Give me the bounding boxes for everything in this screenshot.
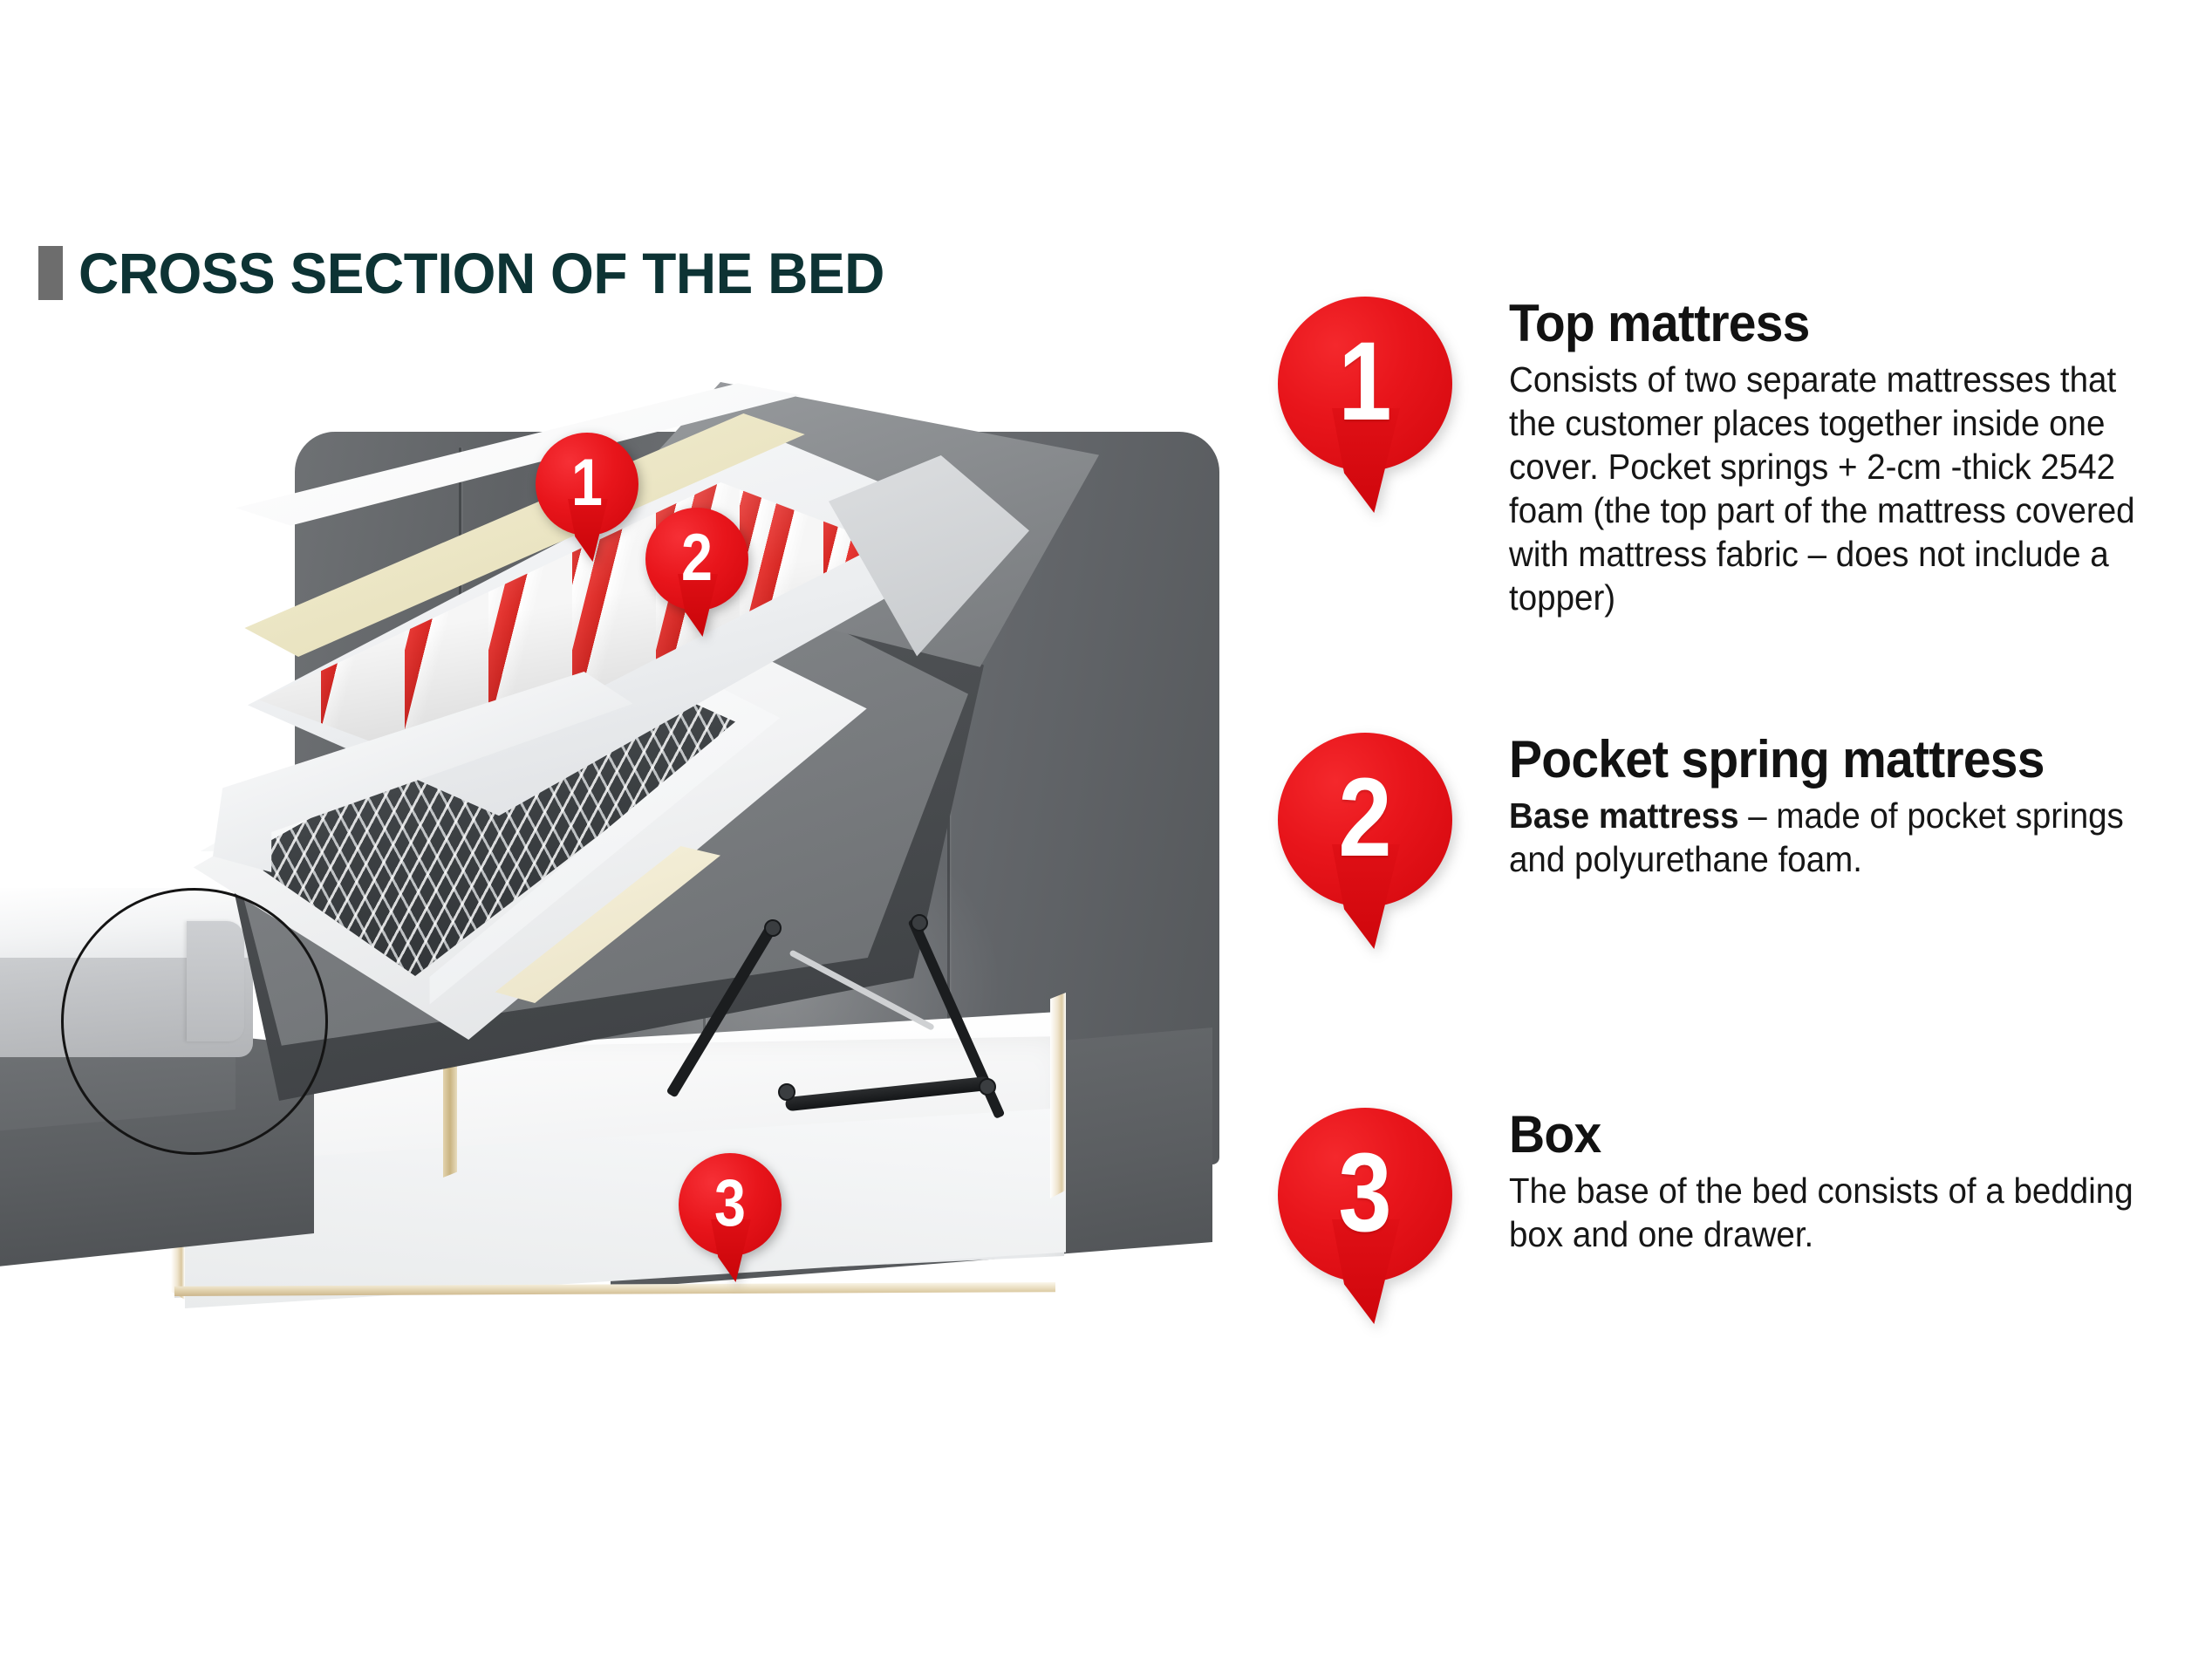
callout-1-title: Top mattress <box>1509 297 2168 351</box>
strut-bolt <box>979 1078 996 1096</box>
callout-2-title: Pocket spring mattress <box>1509 733 2168 787</box>
callout-3: 3 Box The base of the bed consists of a … <box>1278 1108 2202 1369</box>
strut-bolt <box>764 919 782 937</box>
callout-2-lead-bold: Base mattress <box>1509 795 1739 836</box>
callout-1-description: Consists of two separate mattresses that… <box>1509 358 2161 619</box>
marker-pin: 3 <box>1278 1108 1452 1328</box>
callout-1-marker[interactable]: 1 <box>1278 297 1487 550</box>
callout-2-number: 2 <box>1290 733 1440 907</box>
callout-1-body: Top mattress Consists of two separate ma… <box>1509 297 2202 619</box>
infographic-canvas: CROSS SECTION OF THE BED <box>0 0 2212 1659</box>
image-marker-2[interactable]: 2 <box>645 508 748 638</box>
callout-2: 2 Pocket spring mattress Base mattress –… <box>1278 733 2202 1108</box>
callout-3-marker[interactable]: 3 <box>1278 1108 1487 1361</box>
page-title: CROSS SECTION OF THE BED <box>79 246 884 300</box>
callout-3-body: Box The base of the bed consists of a be… <box>1509 1108 2202 1256</box>
bed-cross-section-illustration: 1 2 3 <box>0 410 1247 1378</box>
callout-2-body: Pocket spring mattress Base mattress – m… <box>1509 733 2202 881</box>
strut-bolt <box>778 1083 795 1101</box>
image-marker-1[interactable]: 1 <box>536 433 638 563</box>
callout-3-title: Box <box>1509 1108 2168 1162</box>
title-accent-bar <box>38 246 63 300</box>
marker-number: 3 <box>686 1153 774 1256</box>
page-title-row: CROSS SECTION OF THE BED <box>38 246 909 300</box>
plywood-edge-right <box>1050 993 1066 1198</box>
strut-bolt <box>911 914 928 932</box>
marker-number: 2 <box>653 508 741 611</box>
callout-list: 1 Top mattress Consists of two separate … <box>1278 297 2202 1369</box>
callout-3-number: 3 <box>1290 1108 1440 1282</box>
callout-1: 1 Top mattress Consists of two separate … <box>1278 297 2202 733</box>
detail-highlight-circle <box>61 888 328 1155</box>
marker-number: 1 <box>543 433 631 536</box>
marker-pin: 1 <box>1278 297 1452 516</box>
callout-2-marker[interactable]: 2 <box>1278 733 1487 986</box>
callout-2-description: Base mattress – made of pocket springs a… <box>1509 794 2161 881</box>
callout-3-description: The base of the bed consists of a beddin… <box>1509 1169 2161 1256</box>
marker-pin: 2 <box>1278 733 1452 952</box>
callout-1-number: 1 <box>1290 297 1440 471</box>
image-marker-3[interactable]: 3 <box>679 1153 782 1284</box>
